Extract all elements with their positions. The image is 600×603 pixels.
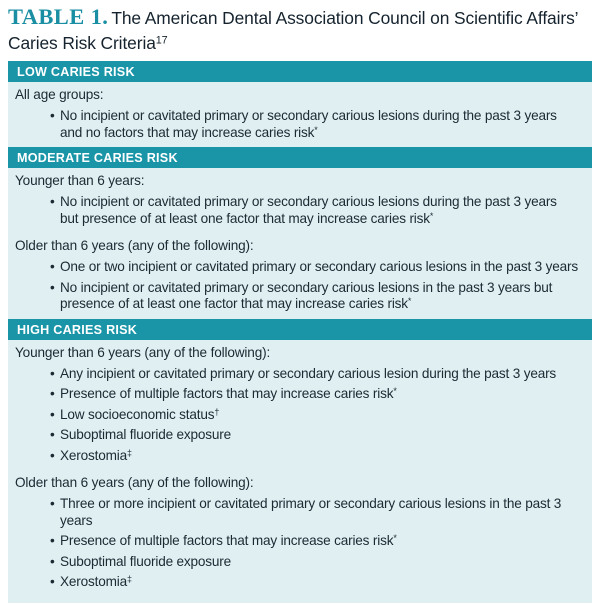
bullet-icon: • (50, 554, 55, 571)
criteria-item-text: Suboptimal fluoride exposure (60, 427, 231, 442)
age-group-label: Younger than 6 years: (8, 168, 592, 192)
age-group-label: Older than 6 years (any of the following… (8, 470, 592, 494)
footnote-marker: * (430, 210, 433, 220)
criteria-item: •No incipient or cavitated primary or se… (8, 106, 582, 143)
bullet-icon: • (50, 386, 55, 403)
footnote-marker: * (393, 533, 396, 543)
bullet-icon: • (50, 280, 55, 297)
criteria-item: •Presence of multiple factors that may i… (8, 384, 582, 405)
criteria-item-text: Presence of multiple factors that may in… (60, 533, 393, 548)
bullet-icon: • (50, 108, 55, 125)
footnote-marker: ‡ (127, 574, 132, 584)
criteria-item-text: One or two incipient or cavitated primar… (60, 259, 578, 274)
criteria-item: •No incipient or cavitated primary or se… (8, 278, 582, 315)
criteria-item: •Xerostomia‡ (8, 446, 582, 467)
bullet-icon: • (50, 259, 55, 276)
section-body: Younger than 6 years (any of the followi… (8, 340, 592, 603)
criteria-list: •No incipient or cavitated primary or se… (8, 106, 592, 147)
footnote-marker: * (393, 386, 396, 396)
bullet-icon: • (50, 496, 55, 513)
criteria-item: •Presence of multiple factors that may i… (8, 531, 582, 552)
criteria-item-text: No incipient or cavitated primary or sec… (60, 108, 557, 140)
criteria-item-text: No incipient or cavitated primary or sec… (60, 194, 557, 226)
criteria-item: •One or two incipient or cavitated prima… (8, 257, 582, 278)
criteria-item: •Suboptimal fluoride exposure (8, 552, 582, 573)
bullet-icon: • (50, 574, 55, 591)
age-group-label: All age groups: (8, 82, 592, 106)
age-group-label: Younger than 6 years (any of the followi… (8, 340, 592, 364)
criteria-item: •Any incipient or cavitated primary or s… (8, 364, 582, 385)
criteria-list: •Any incipient or cavitated primary or s… (8, 364, 592, 471)
footnote-marker: * (408, 296, 411, 306)
bullet-icon: • (50, 366, 55, 383)
footnote-marker: * (314, 124, 317, 134)
criteria-item-text: Presence of multiple factors that may in… (60, 386, 393, 401)
bullet-icon: • (50, 407, 55, 424)
document-page: TABLE 1.The American Dental Association … (0, 0, 600, 600)
criteria-item: •No incipient or cavitated primary or se… (8, 192, 582, 229)
criteria-item-text: Suboptimal fluoride exposure (60, 554, 231, 569)
section-body: Younger than 6 years:•No incipient or ca… (8, 168, 592, 319)
criteria-item-text: Three or more incipient or cavitated pri… (60, 496, 561, 528)
age-group-label: Older than 6 years (any of the following… (8, 233, 592, 257)
criteria-list: •No incipient or cavitated primary or se… (8, 192, 592, 233)
criteria-item-text: Any incipient or cavitated primary or se… (60, 366, 556, 381)
footnote-marker: ‡ (127, 447, 132, 457)
section-header: LOW CARIES RISK (8, 61, 592, 82)
criteria-item-text: No incipient or cavitated primary or sec… (60, 280, 552, 312)
criteria-item-text: Low socioeconomic status (60, 407, 214, 422)
footnote-marker: † (214, 406, 219, 416)
criteria-list: •One or two incipient or cavitated prima… (8, 257, 592, 319)
bullet-icon: • (50, 448, 55, 465)
bullet-icon: • (50, 533, 55, 550)
section-body: All age groups:•No incipient or cavitate… (8, 82, 592, 147)
criteria-item: •Suboptimal fluoride exposure (8, 425, 582, 446)
section-header: MODERATE CARIES RISK (8, 147, 592, 168)
title-footnote-reference: 17 (156, 34, 168, 46)
criteria-list: •Three or more incipient or cavitated pr… (8, 494, 592, 597)
criteria-item: •Xerostomia‡ (8, 572, 582, 593)
criteria-item-text: Xerostomia (60, 448, 127, 463)
criteria-item: •Three or more incipient or cavitated pr… (8, 494, 582, 531)
bullet-icon: • (50, 194, 55, 211)
table-number-label: TABLE 1. (8, 4, 108, 29)
criteria-item-text: Xerostomia (60, 574, 127, 589)
criteria-item: •Low socioeconomic status† (8, 405, 582, 426)
bullet-icon: • (50, 427, 55, 444)
section-header: HIGH CARIES RISK (8, 319, 592, 340)
caries-risk-criteria-table: LOW CARIES RISKAll age groups:•No incipi… (8, 61, 592, 603)
page-title: TABLE 1.The American Dental Association … (8, 4, 592, 56)
